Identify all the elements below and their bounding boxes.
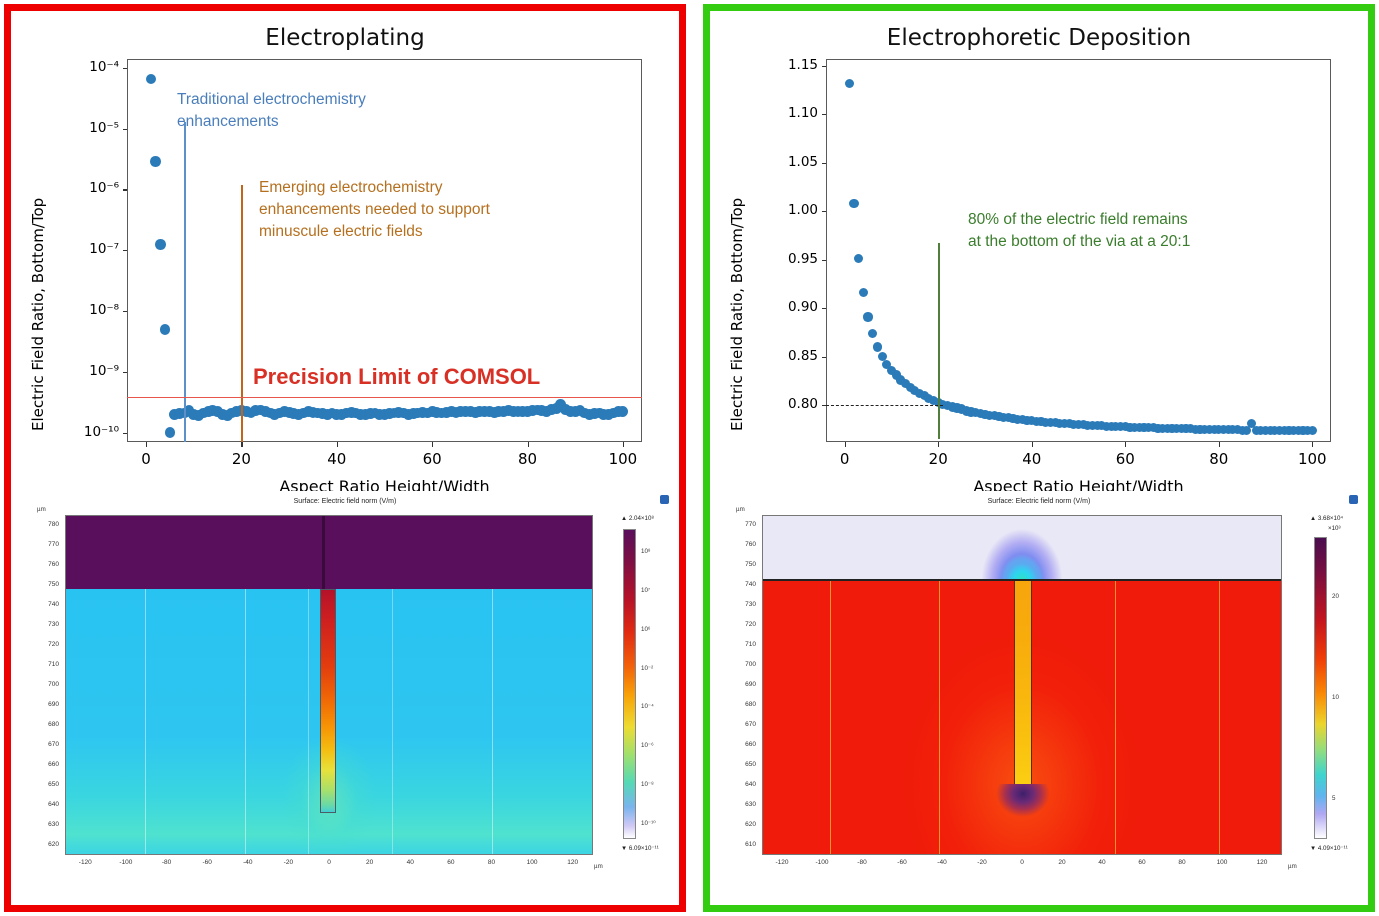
colorbar-tick-label: 10⁻⁶ — [641, 742, 654, 749]
comsol-colorbar: ▲ 2.04×10⁸ 10⁸10⁷10⁶10⁻²10⁻⁴10⁻⁶10⁻⁸10⁻¹… — [611, 515, 681, 855]
comsol-x-tick: -60 — [191, 859, 223, 866]
y-tick-mark — [822, 260, 826, 261]
comsol-y-tick: 710 — [728, 641, 756, 648]
comsol-logo-icon — [1349, 495, 1358, 504]
comsol-y-tick: 650 — [31, 781, 59, 788]
comsol-y-tick: 720 — [728, 621, 756, 628]
x-tick-label: 80 — [1194, 450, 1244, 468]
panel-electrophoretic: Electrophoretic Deposition Electric Fiel… — [703, 4, 1375, 912]
x-tick-mark — [1125, 442, 1126, 447]
comsol-y-tick: 640 — [728, 781, 756, 788]
colorbar-gradient — [623, 529, 636, 839]
comsol-x-tick: -80 — [151, 859, 183, 866]
data-point — [146, 74, 156, 84]
comsol-x-tick: 0 — [313, 859, 345, 866]
comsol-field-map — [65, 515, 593, 855]
y-tick-label: 10⁻⁴ — [63, 59, 119, 75]
comsol-x-tick: -120 — [766, 859, 798, 866]
colorbar-tick-label: 10⁸ — [641, 548, 651, 555]
x-tick-label: 100 — [598, 450, 648, 468]
y-tick-label: 0.90 — [762, 299, 818, 315]
data-point — [845, 79, 854, 88]
x-tick-label: 60 — [407, 450, 457, 468]
y-tick-label: 10⁻¹⁰ — [63, 424, 119, 440]
comsol-x-tick: 100 — [1206, 859, 1238, 866]
chart-title: Electrophoretic Deposition — [710, 25, 1368, 51]
comsol-y-tick: 660 — [728, 741, 756, 748]
y-tick-label: 10⁻⁸ — [63, 302, 119, 318]
data-point — [849, 199, 858, 208]
x-tick-mark — [845, 442, 846, 447]
x-tick-mark — [146, 442, 147, 447]
colorbar-tick-label: 5 — [1332, 795, 1335, 802]
comsol-x-tick: -120 — [69, 859, 101, 866]
annotation-hline — [127, 397, 642, 399]
colorbar-tick-label: 10⁷ — [641, 587, 650, 594]
colorbar-tick-label: 10 — [1332, 694, 1339, 701]
data-point — [160, 324, 170, 334]
colorbar-tick-label: 10⁻⁸ — [641, 781, 654, 788]
y-tick-mark — [822, 357, 826, 358]
comsol-y-unit: µm — [37, 506, 46, 513]
colorbar-gradient — [1314, 537, 1327, 839]
colorbar-min-label: ▼ 4.09×10⁻¹¹ — [1310, 845, 1348, 852]
comsol-y-tick: 670 — [728, 721, 756, 728]
x-tick-mark — [1219, 442, 1220, 447]
y-tick-label: 0.95 — [762, 251, 818, 267]
x-tick-label: 0 — [121, 450, 171, 468]
x-tick-label: 40 — [1007, 450, 1057, 468]
comsol-x-tick: 80 — [475, 859, 507, 866]
comsol-y-tick: 650 — [728, 761, 756, 768]
comsol-y-tick: 730 — [31, 621, 59, 628]
x-tick-mark — [528, 442, 529, 447]
comsol-y-tick: 640 — [31, 801, 59, 808]
x-tick-label: 0 — [820, 450, 870, 468]
x-tick-mark — [432, 442, 433, 447]
comsol-x-tick: 20 — [354, 859, 386, 866]
y-tick-label: 10⁻⁵ — [63, 120, 119, 136]
colorbar-tick-label: 20 — [1332, 593, 1339, 600]
y-tick-label: 0.85 — [762, 348, 818, 364]
annotation-vline — [241, 185, 243, 442]
annotation-traditional: Traditional electrochemistry enhancement… — [177, 89, 447, 133]
comsol-y-tick: 610 — [728, 841, 756, 848]
y-axis-label: Electric Field Ratio, Bottom/Top — [728, 198, 746, 431]
colorbar-tick-label: 10⁻⁴ — [641, 703, 654, 710]
y-tick-label: 1.15 — [762, 57, 818, 73]
x-tick-label: 60 — [1100, 450, 1150, 468]
comsol-x-tick: -20 — [272, 859, 304, 866]
comsol-y-tick: 700 — [728, 661, 756, 668]
comsol-y-tick: 680 — [728, 701, 756, 708]
comsol-x-tick: 40 — [1086, 859, 1118, 866]
comsol-y-tick: 620 — [31, 841, 59, 848]
comsol-y-tick: 760 — [31, 561, 59, 568]
colorbar-tick-label: 10⁻² — [641, 665, 653, 672]
y-tick-label: 10⁻⁶ — [63, 180, 119, 196]
y-tick-mark — [123, 250, 127, 251]
comsol-x-unit: µm — [1288, 863, 1297, 870]
comsol-x-tick: 120 — [557, 859, 589, 866]
comsol-colorbar: ▲ 3.68×10⁴ ×10³ 20105 ▼ 4.09×10⁻¹¹ — [1302, 515, 1372, 855]
y-tick-label: 0.80 — [762, 396, 818, 412]
comsol-y-tick: 770 — [728, 521, 756, 528]
chart-title: Electroplating — [11, 25, 679, 51]
data-point — [873, 342, 882, 351]
comsol-y-tick: 750 — [728, 561, 756, 568]
x-tick-mark — [337, 442, 338, 447]
y-tick-label: 10⁻⁹ — [63, 363, 119, 379]
x-tick-label: 80 — [503, 450, 553, 468]
y-tick-mark — [822, 211, 826, 212]
comsol-y-tick: 680 — [31, 721, 59, 728]
comsol-x-tick: 100 — [516, 859, 548, 866]
comsol-y-tick: 740 — [31, 601, 59, 608]
comsol-y-tick: 670 — [31, 741, 59, 748]
comsol-y-tick: 630 — [728, 801, 756, 808]
comsol-x-tick: -60 — [886, 859, 918, 866]
comsol-y-tick: 620 — [728, 821, 756, 828]
panel-electroplating: Electroplating Electric Field Ratio, Bot… — [4, 4, 686, 912]
y-tick-mark — [123, 433, 127, 434]
y-tick-mark — [123, 68, 127, 69]
comsol-logo-icon — [660, 495, 669, 504]
y-tick-mark — [123, 129, 127, 130]
data-point — [1308, 426, 1317, 435]
comsol-x-tick: -100 — [110, 859, 142, 866]
comsol-title: Surface: Electric field norm (V/m) — [11, 498, 679, 505]
colorbar-max-label: ▲ 2.04×10⁸ — [621, 515, 654, 522]
comsol-y-tick: 760 — [728, 541, 756, 548]
comsol-figure-electrophoretic: Surface: Electric field norm (V/m) µm µm… — [710, 491, 1368, 905]
x-tick-mark — [623, 442, 624, 447]
y-axis-label: Electric Field Ratio, Bottom/Top — [29, 198, 47, 431]
y-tick-mark — [822, 66, 826, 67]
x-tick-label: 40 — [312, 450, 362, 468]
comsol-x-tick: -100 — [806, 859, 838, 866]
y-tick-mark — [822, 114, 826, 115]
comsol-x-tick: -40 — [232, 859, 264, 866]
x-tick-mark — [1312, 442, 1313, 447]
comsol-x-tick: -40 — [926, 859, 958, 866]
comsol-y-tick: 730 — [728, 601, 756, 608]
comsol-x-unit: µm — [594, 863, 603, 870]
comsol-y-unit: µm — [736, 506, 745, 513]
comsol-x-tick: 20 — [1046, 859, 1078, 866]
chart-electroplating: Electroplating Electric Field Ratio, Bot… — [11, 11, 679, 493]
x-tick-label: 100 — [1287, 450, 1337, 468]
annotation-vline — [938, 243, 940, 439]
comsol-y-tick: 740 — [728, 581, 756, 588]
colorbar-tick-label: 10⁶ — [641, 626, 650, 633]
comsol-x-tick: 80 — [1166, 859, 1198, 866]
y-tick-label: 10⁻⁷ — [63, 241, 119, 257]
data-point — [863, 312, 872, 321]
y-tick-mark — [822, 308, 826, 309]
colorbar-tick-label: 10⁻¹⁰ — [641, 820, 656, 827]
y-tick-mark — [123, 189, 127, 190]
annotation-precision-limit: Precision Limit of COMSOL — [253, 364, 540, 390]
annotation-eighty-percent: 80% of the electric field remains at the… — [968, 209, 1268, 253]
comsol-title: Surface: Electric field norm (V/m) — [710, 498, 1368, 505]
comsol-x-tick: 0 — [1006, 859, 1038, 866]
data-point — [617, 406, 628, 417]
data-point — [150, 156, 160, 166]
figure-root: Electroplating Electric Field Ratio, Bot… — [0, 0, 1379, 916]
comsol-y-tick: 690 — [31, 701, 59, 708]
comsol-y-tick: 710 — [31, 661, 59, 668]
x-tick-mark — [938, 442, 939, 447]
comsol-y-tick: 720 — [31, 641, 59, 648]
comsol-y-tick: 770 — [31, 541, 59, 548]
colorbar-multiplier: ×10³ — [1328, 525, 1341, 532]
colorbar-max-label: ▲ 3.68×10⁴ — [1310, 515, 1343, 522]
comsol-y-tick: 630 — [31, 821, 59, 828]
comsol-x-tick: 60 — [435, 859, 467, 866]
y-tick-mark — [822, 163, 826, 164]
annotation-hline — [826, 405, 943, 406]
x-tick-label: 20 — [913, 450, 963, 468]
comsol-x-tick: -20 — [966, 859, 998, 866]
annotation-emerging: Emerging electrochemistry enhancements n… — [259, 177, 559, 243]
comsol-y-tick: 780 — [31, 521, 59, 528]
data-point — [155, 239, 165, 249]
comsol-x-tick: -80 — [846, 859, 878, 866]
data-point — [165, 427, 175, 437]
comsol-y-tick: 750 — [31, 581, 59, 588]
x-tick-mark — [1032, 442, 1033, 447]
y-tick-label: 1.00 — [762, 202, 818, 218]
comsol-x-tick: 60 — [1126, 859, 1158, 866]
comsol-field-map — [762, 515, 1282, 855]
comsol-x-tick: 40 — [394, 859, 426, 866]
comsol-figure-electroplating: Surface: Electric field norm (V/m) µm µm… — [11, 491, 679, 905]
x-tick-mark — [241, 442, 242, 447]
x-tick-label: 20 — [216, 450, 266, 468]
comsol-y-tick: 690 — [728, 681, 756, 688]
colorbar-min-label: ▼ 6.09×10⁻¹¹ — [621, 845, 659, 852]
chart-electrophoretic: Electrophoretic Deposition Electric Fiel… — [710, 11, 1368, 493]
comsol-y-tick: 660 — [31, 761, 59, 768]
annotation-vline — [184, 122, 186, 442]
y-tick-mark — [123, 372, 127, 373]
y-tick-label: 1.10 — [762, 105, 818, 121]
comsol-x-tick: 120 — [1246, 859, 1278, 866]
y-tick-mark — [123, 311, 127, 312]
y-tick-label: 1.05 — [762, 154, 818, 170]
comsol-y-tick: 700 — [31, 681, 59, 688]
